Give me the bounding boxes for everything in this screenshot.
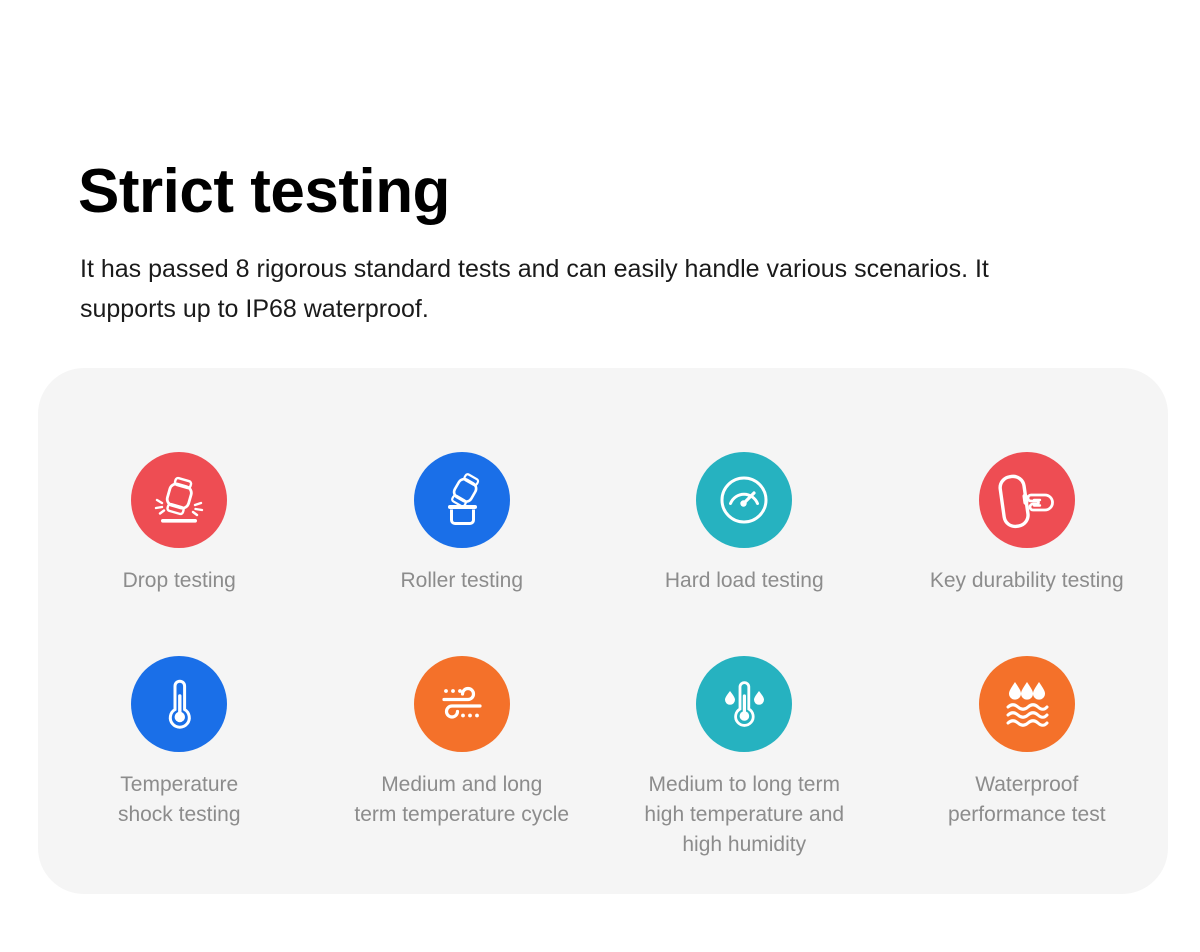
test-item-label: Temperature shock testing bbox=[118, 770, 241, 830]
key-durability-testing-badge bbox=[979, 452, 1075, 548]
test-item-temperature-cycle-testing[interactable]: Medium and long term temperature cycle bbox=[321, 656, 604, 860]
high-temp-humidity-testing-badge bbox=[696, 656, 792, 752]
roller-testing-badge bbox=[414, 452, 510, 548]
test-item-temperature-shock-testing[interactable]: Temperature shock testing bbox=[38, 656, 321, 860]
watch-button-press-hand-icon bbox=[994, 467, 1060, 533]
test-item-roller-testing[interactable]: Roller testing bbox=[321, 452, 604, 596]
waterproof-performance-badge bbox=[979, 656, 1075, 752]
drop-testing-badge bbox=[131, 452, 227, 548]
testing-grid: Drop testing bbox=[38, 368, 1168, 894]
test-item-hard-load-testing[interactable]: Hard load testing bbox=[603, 452, 886, 596]
testing-row-2: Temperature shock testing bbox=[38, 596, 1168, 860]
page-title: Strict testing bbox=[78, 154, 450, 230]
hard-load-testing-badge bbox=[696, 452, 792, 548]
temperature-shock-testing-badge bbox=[131, 656, 227, 752]
test-item-label: Medium and long term temperature cycle bbox=[354, 770, 569, 830]
watch-drop-impact-icon bbox=[149, 470, 209, 530]
water-drops-waves-icon bbox=[997, 674, 1057, 734]
thermometer-icon bbox=[149, 674, 209, 734]
wind-airflow-icon bbox=[432, 674, 492, 734]
test-item-key-durability-testing[interactable]: Key durability testing bbox=[886, 452, 1169, 596]
test-item-waterproof-performance-test[interactable]: Waterproof performance test bbox=[886, 656, 1169, 860]
temperature-cycle-testing-badge bbox=[414, 656, 510, 752]
test-item-drop-testing[interactable]: Drop testing bbox=[38, 452, 321, 596]
test-item-label: Medium to long term high temperature and… bbox=[644, 770, 844, 860]
testing-card: Drop testing bbox=[38, 368, 1168, 894]
watch-into-drum-icon bbox=[432, 470, 492, 530]
page-description: It has passed 8 rigorous standard tests … bbox=[80, 249, 1030, 329]
test-item-high-temp-humidity-testing[interactable]: Medium to long term high temperature and… bbox=[603, 656, 886, 860]
test-item-label: Waterproof performance test bbox=[948, 770, 1106, 830]
thermometer-humidity-icon bbox=[714, 674, 774, 734]
test-item-label: Hard load testing bbox=[665, 566, 824, 596]
test-item-label: Drop testing bbox=[123, 566, 236, 596]
speedometer-gauge-icon bbox=[714, 470, 774, 530]
strict-testing-page: Strict testing It has passed 8 rigorous … bbox=[0, 0, 1200, 952]
test-item-label: Key durability testing bbox=[930, 566, 1124, 596]
testing-row-1: Drop testing bbox=[38, 368, 1168, 596]
test-item-label: Roller testing bbox=[400, 566, 523, 596]
